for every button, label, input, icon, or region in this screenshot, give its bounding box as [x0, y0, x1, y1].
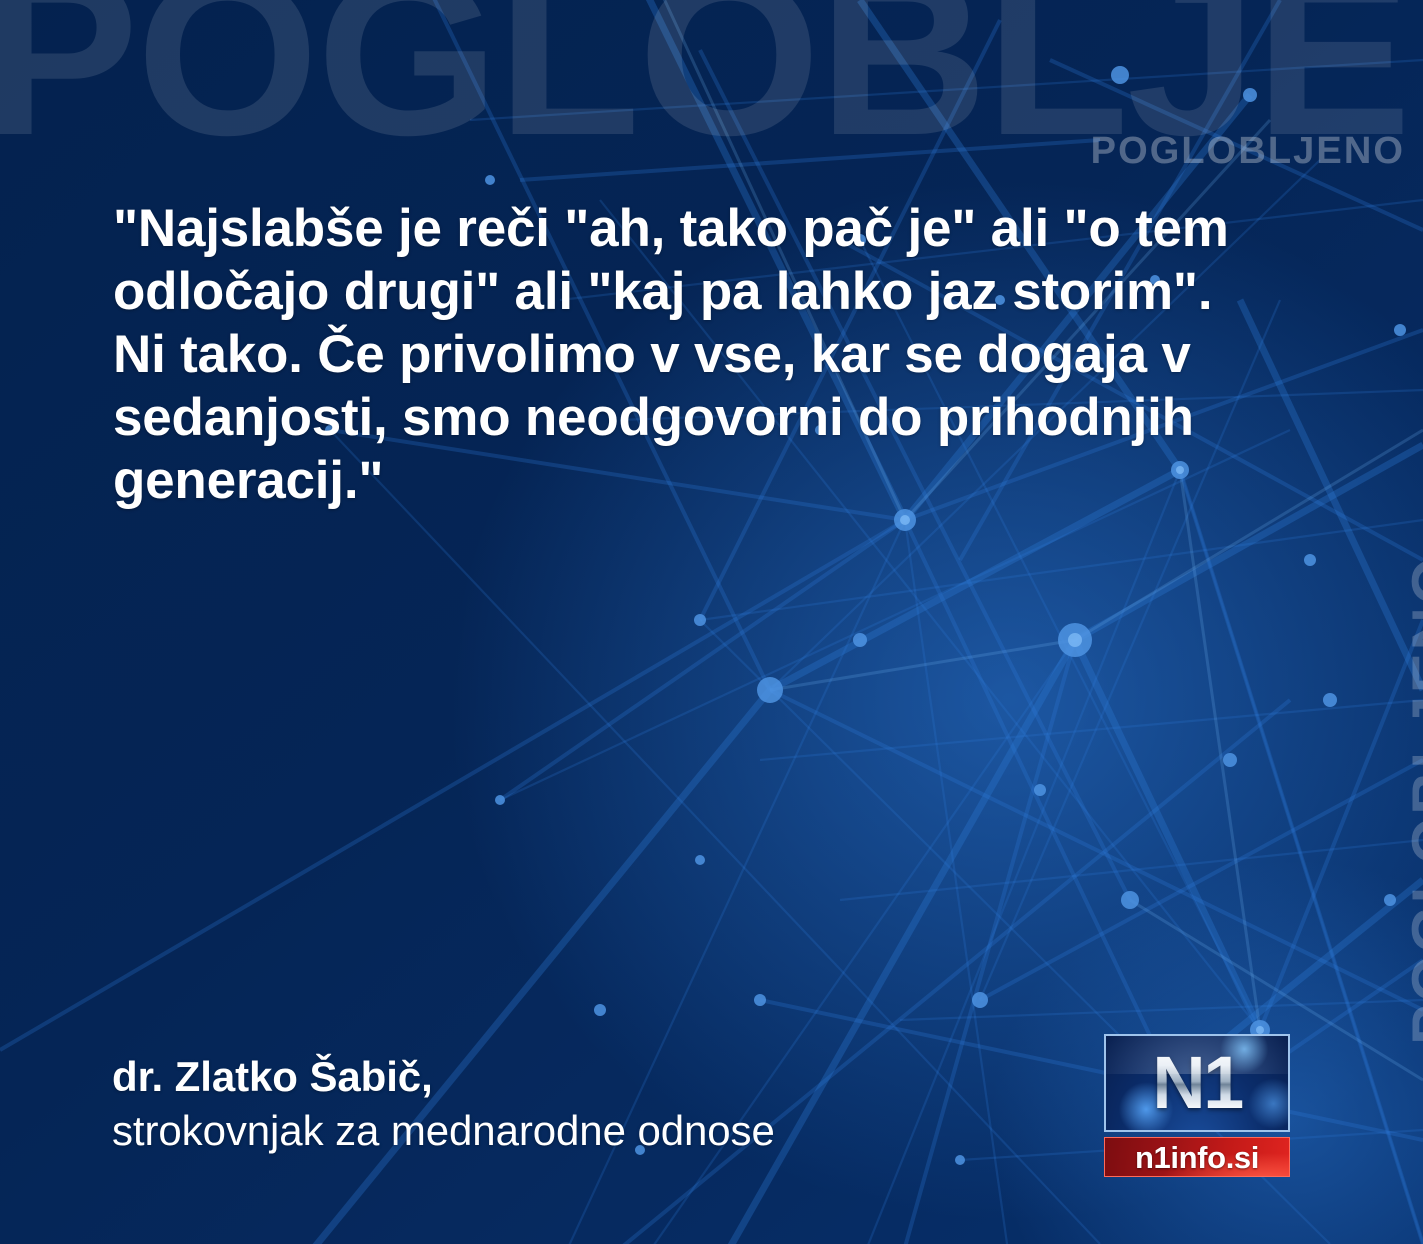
quote-line: odločajo drugi" ali "kaj pa lahko jaz st… — [113, 260, 1243, 323]
n1-logo[interactable]: N1 n1info.si — [1104, 1034, 1290, 1168]
n1-logo-url-bar: n1info.si — [1104, 1137, 1290, 1177]
quote-line: "Najslabše je reči "ah, tako pač je" ali… — [113, 197, 1243, 260]
quote-line: sedanjosti, smo neodgovorni do prihodnji… — [113, 386, 1243, 449]
quote-card: POGLOBLJENO POGLOBLJENO POGLOBLJENO "Naj… — [0, 0, 1423, 1244]
quote-line: generacij." — [113, 449, 1243, 512]
attribution: dr. Zlatko Šabič, strokovnjak za mednaro… — [112, 1050, 775, 1158]
quote-line: Ni tako. Če privolimo v vse, kar se doga… — [113, 323, 1243, 386]
n1-logo-mark: N1 — [1106, 1046, 1288, 1120]
quote-text: "Najslabše je reči "ah, tako pač je" ali… — [113, 197, 1243, 512]
attribution-name: dr. Zlatko Šabič, — [112, 1050, 775, 1104]
n1-logo-url-text: n1info.si — [1135, 1142, 1259, 1173]
n1-logo-box: N1 — [1104, 1034, 1290, 1132]
attribution-role: strokovnjak za mednarodne odnose — [112, 1104, 775, 1158]
